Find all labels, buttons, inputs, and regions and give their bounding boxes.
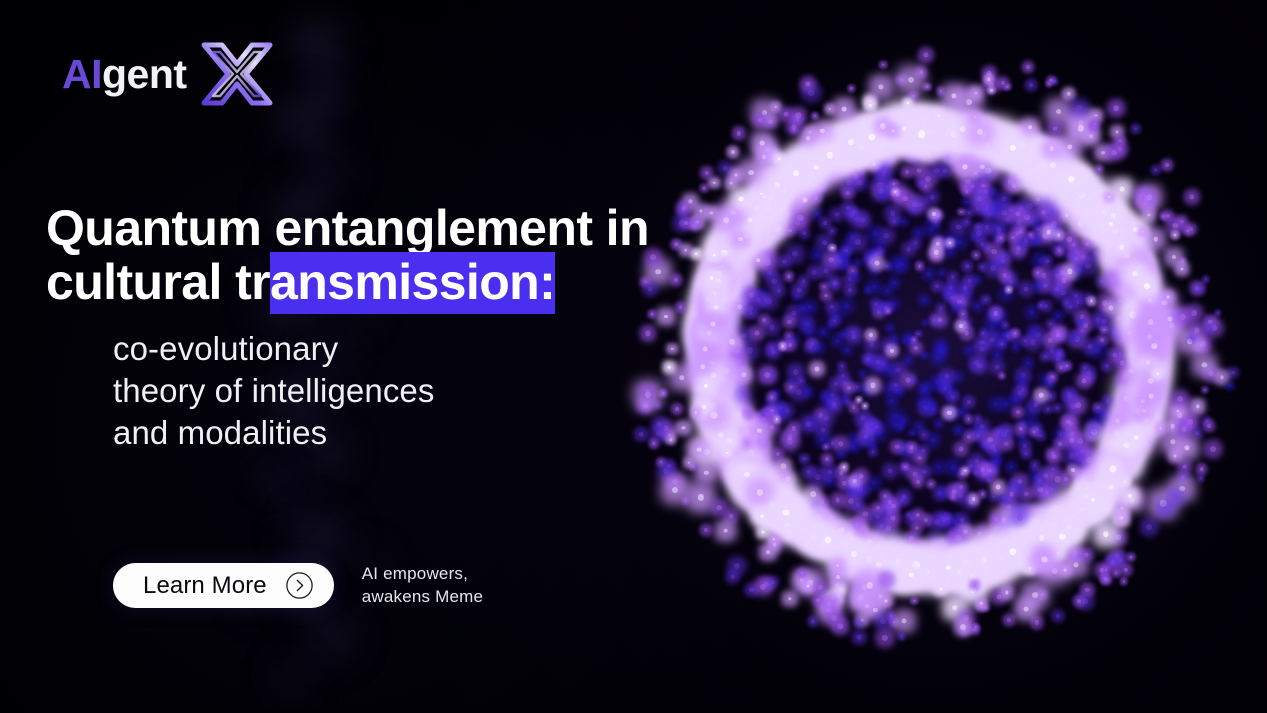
subheading-line-1: co-evolutionary — [113, 328, 435, 370]
brand-wordmark-gent: gent — [102, 51, 187, 97]
subheading-line-2: theory of intelligences — [113, 370, 435, 412]
headline-line-2: cultural transmission: — [46, 256, 786, 308]
learn-more-label: Learn More — [143, 572, 267, 600]
tagline-line-1: AI empowers, — [362, 563, 483, 585]
headline-line-1: Quantum entanglement in — [46, 200, 649, 256]
cta-row: Learn More AI empowers, awakens Meme — [113, 563, 483, 608]
learn-more-button[interactable]: Learn More — [113, 563, 334, 608]
brand-wordmark-ai: AI — [62, 51, 102, 97]
page-title: Quantum entanglement in cultural transmi… — [46, 202, 786, 308]
chevron-right-circle-icon — [285, 571, 314, 600]
subheading: co-evolutionary theory of intelligences … — [113, 328, 435, 454]
brand-logo[interactable]: AIgent — [62, 41, 274, 107]
tagline-line-2: awakens Meme — [362, 586, 483, 608]
hero-banner: AIgent Quantum entan — [0, 0, 1267, 713]
tagline: AI empowers, awakens Meme — [362, 563, 483, 608]
brand-wordmark: AIgent — [62, 54, 187, 95]
headline-line-2-plain: cultural tr — [46, 254, 270, 310]
subheading-line-3: and modalities — [113, 412, 435, 454]
headline-selected-text: ansmission: — [270, 252, 555, 314]
x-logo-icon — [200, 41, 274, 107]
